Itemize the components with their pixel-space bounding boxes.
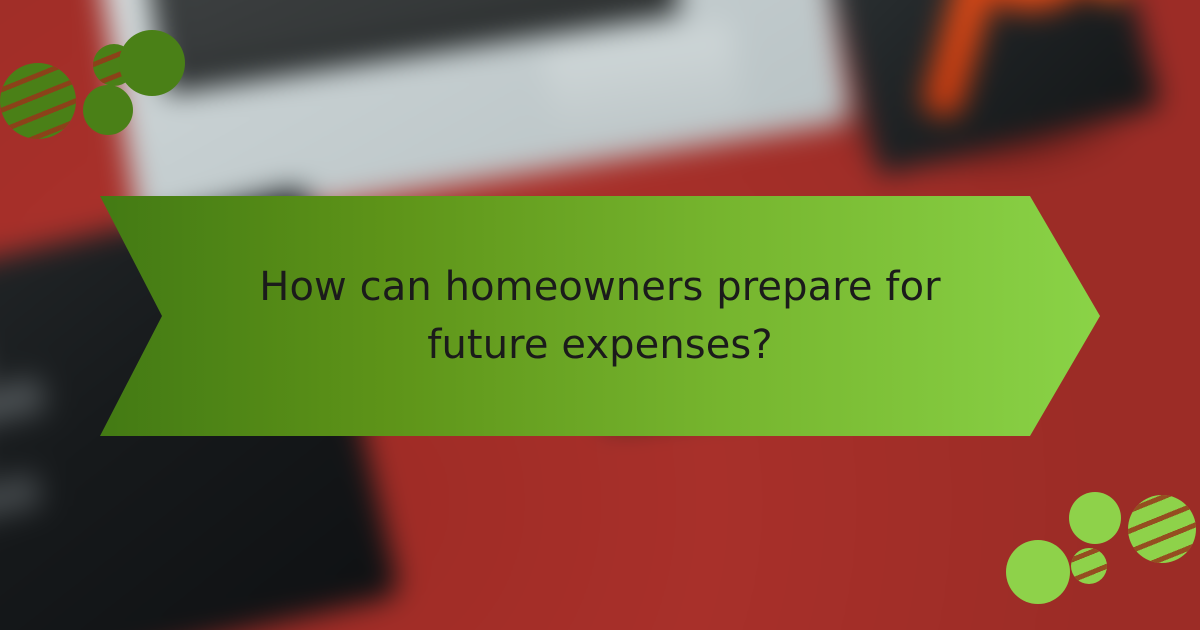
circle-small-striped	[1071, 548, 1107, 584]
circle-medium-plain	[1069, 492, 1121, 544]
headline-text: How can homeowners prepare for future ex…	[250, 258, 950, 374]
circle-large-striped	[0, 63, 76, 139]
circle-medium-plain	[83, 85, 133, 135]
social-card: How can homeowners prepare for future ex…	[0, 0, 1200, 630]
headline-banner: How can homeowners prepare for future ex…	[100, 196, 1100, 436]
circle-large-striped	[1128, 495, 1196, 563]
circle-large-plain	[119, 30, 185, 96]
circle-large-plain	[1006, 540, 1070, 604]
